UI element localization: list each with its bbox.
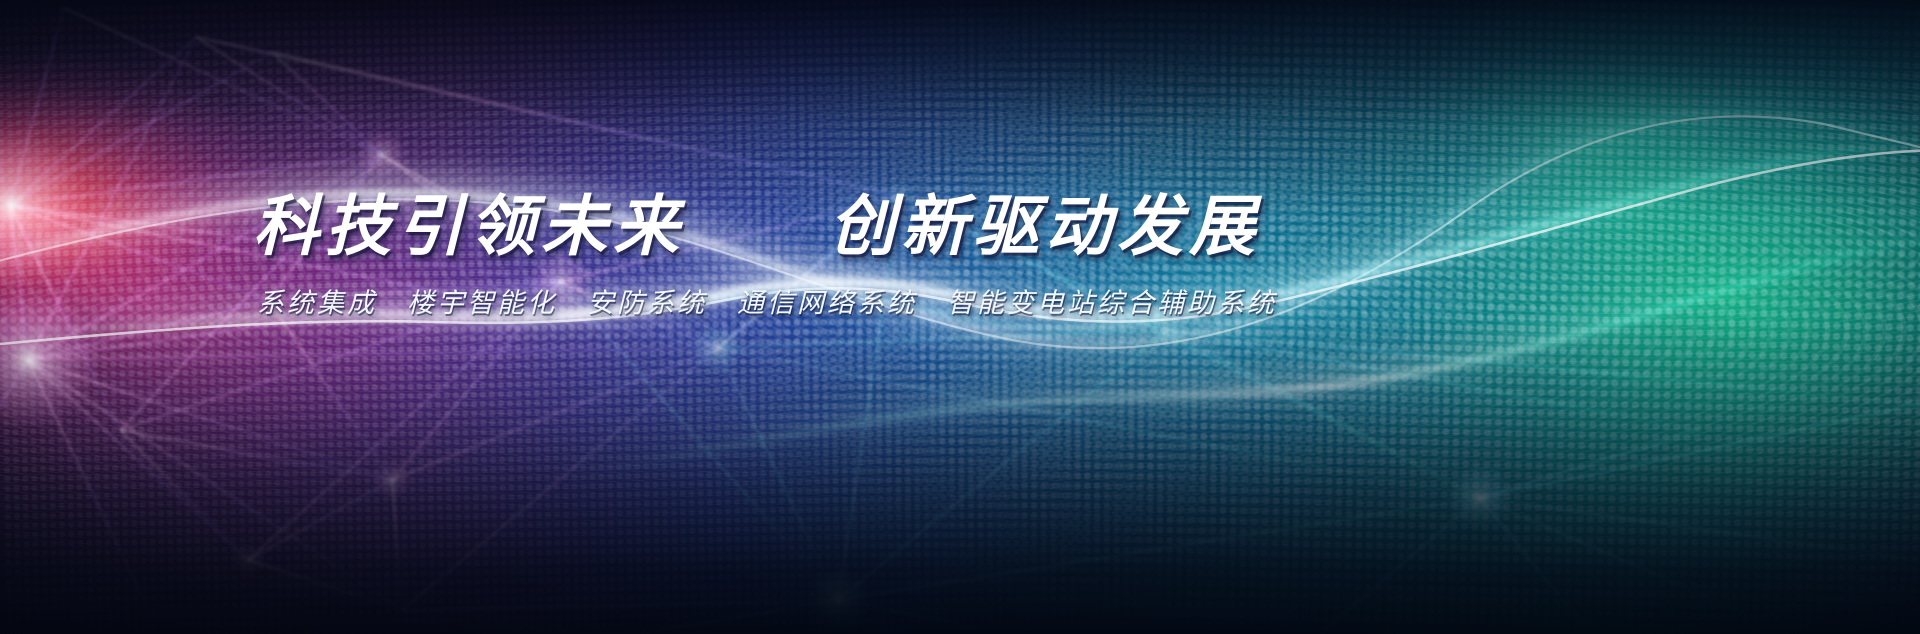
tech-hero-banner: 科技引领未来 创新驱动发展 系统集成 楼宇智能化 安防系统 通信网络系统 智能变… (0, 0, 1920, 634)
banner-headline: 科技引领未来 创新驱动发展 (253, 188, 1373, 264)
banner-subtitle: 系统集成 楼宇智能化 安防系统 通信网络系统 智能变电站综合辅助系统 (257, 286, 1373, 320)
banner-copy-block: 科技引领未来 创新驱动发展 系统集成 楼宇智能化 安防系统 通信网络系统 智能变… (253, 188, 1373, 320)
